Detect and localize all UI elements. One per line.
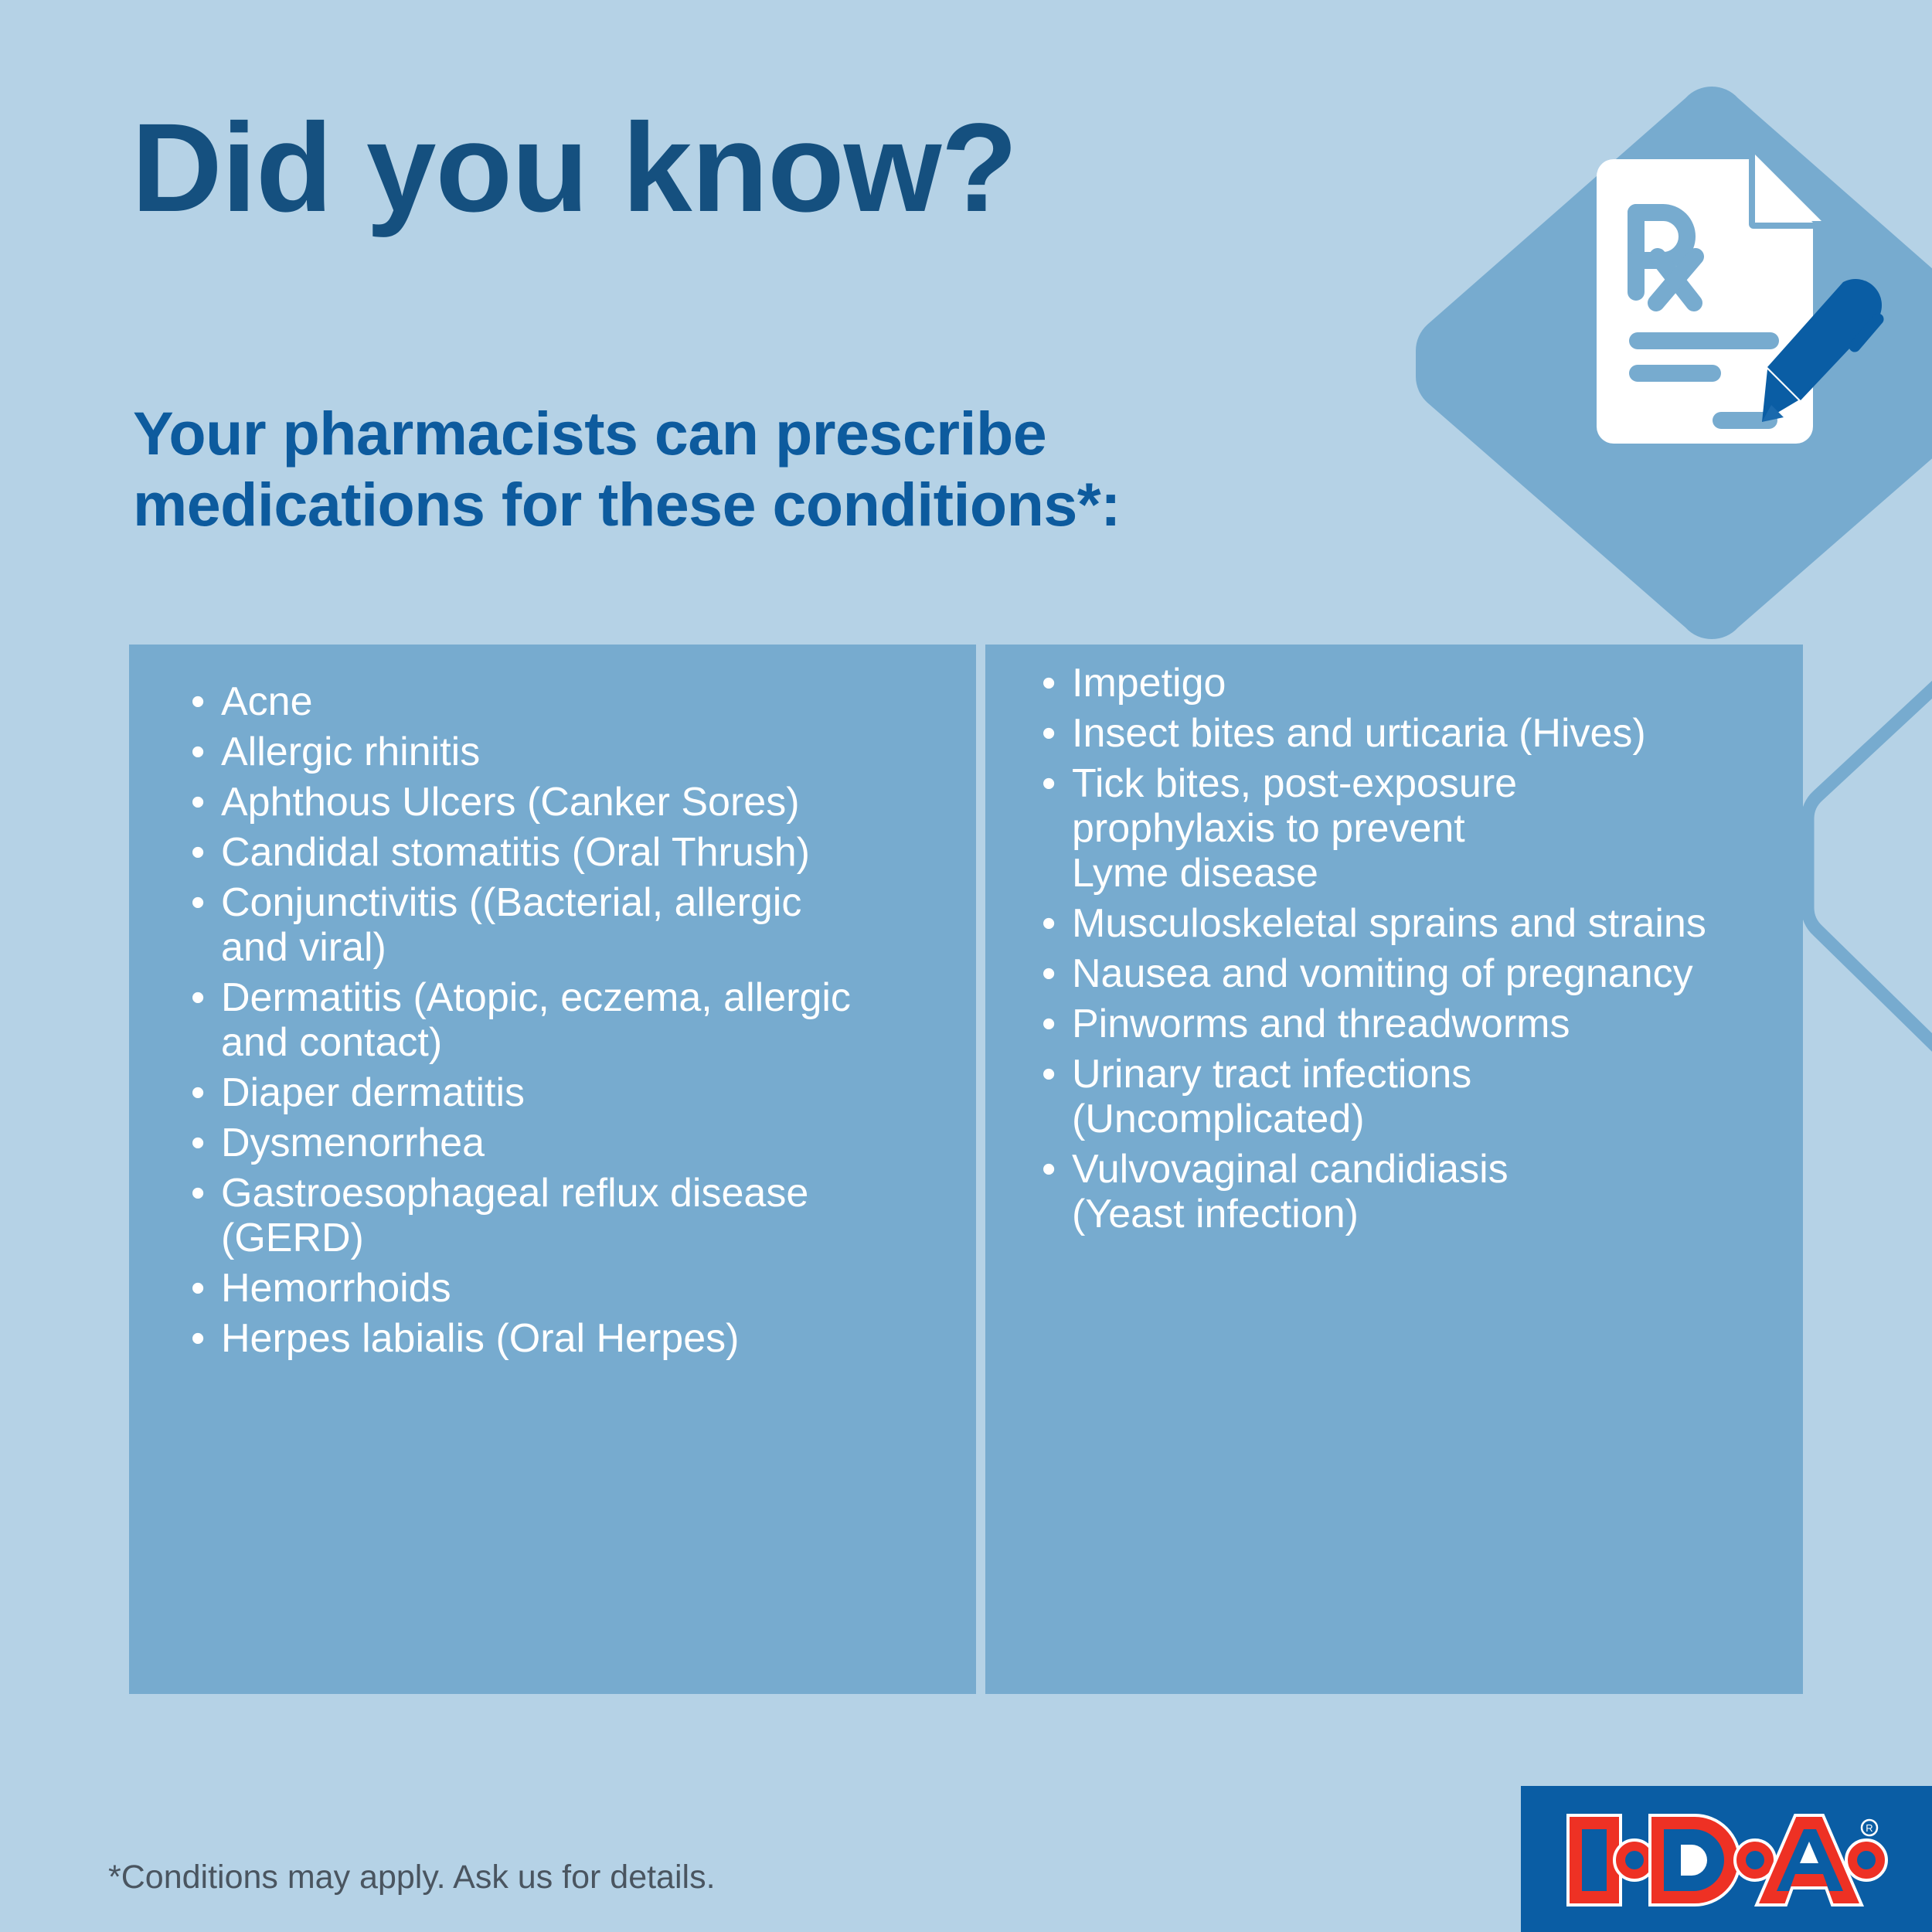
page-subtitle: Your pharmacists can prescribe medicatio… [133,398,1121,539]
conditions-list-right: • Impetigo • Insect bites and urticaria … [1038,662,1795,1243]
document-line-2 [1629,365,1721,382]
list-item: • Hemorrhoids [187,1267,960,1311]
list-item: • Pinworms and threadworms [1038,1002,1795,1047]
list-item: • Insect bites and urticaria (Hives) [1038,712,1795,757]
registered-mark-icon: R [1862,1820,1877,1835]
list-item: • Diaper dermatitis [187,1071,960,1116]
bullet-icon: • [1042,1053,1056,1097]
bullet-icon: • [191,680,205,725]
conditions-list-left: • Acne • Allergic rhinitis • Aphthous Ul… [187,680,960,1367]
conditions-panel-right: • Impetigo • Insect bites and urticaria … [985,645,1803,1694]
bullet-icon: • [191,1121,205,1166]
infographic-root: Did you know? Your pharmacists can presc… [0,0,1932,1932]
rx-symbol [1636,213,1696,303]
hexagon-filled [1416,87,1932,639]
bullet-icon: • [191,831,205,876]
list-item: • Conjunctivitis ((Bacterial, allergic a… [187,881,960,971]
bullet-icon: • [1042,1002,1056,1047]
list-item: • Candidal stomatitis (Oral Thrush) [187,831,960,876]
bullet-icon: • [1042,662,1056,706]
document-line-1 [1629,332,1779,349]
list-item: • Gastroesophageal reflux disease (GERD) [187,1172,960,1261]
hexagon-outline [1808,614,1932,1121]
bullet-icon: • [191,781,205,825]
bullet-icon: • [1042,712,1056,757]
bullet-icon: • [1042,902,1056,947]
bullet-icon: • [191,730,205,775]
list-item: • Impetigo [1038,662,1795,706]
list-item: • Urinary tract infections (Uncomplicate… [1038,1053,1795,1142]
bullet-icon: • [191,1317,205,1362]
bullet-icon: • [191,1071,205,1116]
bullet-icon: • [191,1267,205,1311]
list-item: • Vulvovaginal candidiasis (Yeast infect… [1038,1148,1795,1237]
svg-text:R: R [1866,1822,1872,1834]
conditions-panel-left: • Acne • Allergic rhinitis • Aphthous Ul… [129,645,976,1694]
list-item: • Dysmenorrhea [187,1121,960,1166]
list-item: • Allergic rhinitis [187,730,960,775]
ida-logo: R [1521,1786,1932,1932]
page-title: Did you know? [131,104,1017,230]
list-item: • Herpes labialis (Oral Herpes) [187,1317,960,1362]
list-item: • Dermatitis (Atopic, eczema, allergic a… [187,976,960,1066]
bullet-icon: • [1042,952,1056,997]
list-item: • Tick bites, post-exposure prophylaxis … [1038,762,1795,896]
subtitle-line-2: medications for these conditions*: [133,469,1121,540]
list-item: • Aphthous Ulcers (Canker Sores) [187,781,960,825]
list-item: • Nausea and vomiting of pregnancy [1038,952,1795,997]
list-item: • Acne [187,680,960,725]
bullet-icon: • [191,1172,205,1216]
list-item: • Musculoskeletal sprains and strains [1038,902,1795,947]
subtitle-line-1: Your pharmacists can prescribe [133,398,1121,469]
bullet-icon: • [191,976,205,1021]
pencil-icon [1762,279,1882,422]
prescription-document-icon [1597,155,1882,444]
signature-line [1713,412,1777,429]
bullet-icon: • [1042,762,1056,807]
footnote-text: *Conditions may apply. Ask us for detail… [108,1859,716,1896]
bullet-icon: • [191,881,205,926]
bullet-icon: • [1042,1148,1056,1192]
ida-logo-mark: R [1563,1811,1888,1910]
